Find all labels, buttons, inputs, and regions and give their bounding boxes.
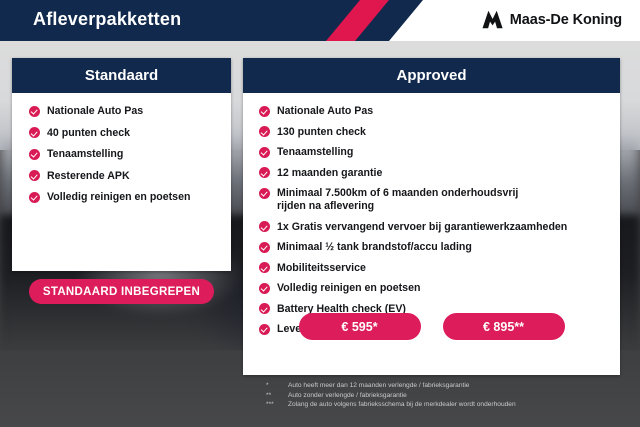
footnote-marker: * — [266, 381, 288, 391]
page-title: Afleverpakketten — [33, 9, 181, 30]
top-bar: Afleverpakketten Maas-De Koning — [0, 0, 640, 41]
check-circle-icon — [29, 170, 40, 181]
list-item: Volledig reinigen en poetsen — [29, 191, 231, 204]
feature-label: Minimaal 7.500km of 6 maanden onderhouds… — [277, 187, 518, 213]
feature-label-line-2: rijden na aflevering — [277, 200, 518, 213]
list-item: Resterende APK — [29, 170, 231, 183]
brand-logo: Maas-De Koning — [482, 10, 622, 29]
check-circle-icon — [259, 262, 270, 273]
feature-label: Volledig reinigen en poetsen — [277, 282, 420, 295]
footnote-3: *** Zolang de auto volgens fabrieksschem… — [266, 400, 626, 410]
check-circle-icon — [29, 106, 40, 117]
footnote-text: Zolang de auto volgens fabrieksschema bi… — [288, 400, 626, 410]
list-item: Tenaamstelling — [29, 148, 231, 161]
promo-page: Afleverpakketten Maas-De Koning Standaar… — [0, 0, 640, 427]
footnote-marker: ** — [266, 391, 288, 401]
check-circle-icon — [259, 188, 270, 199]
feature-label: Minimaal ½ tank brandstof/accu lading — [277, 241, 472, 254]
feature-label: Nationale Auto Pas — [277, 105, 373, 118]
price-button-595[interactable]: € 595* — [299, 313, 421, 340]
brand-name: Maas-De Koning — [510, 12, 622, 28]
check-circle-icon — [29, 192, 40, 203]
approved-feature-list: Nationale Auto Pas 130 punten check Tena… — [243, 93, 620, 336]
check-circle-icon — [259, 147, 270, 158]
footnote-text: Auto zonder verlengde / fabrieksgarantie — [288, 391, 626, 401]
check-circle-icon — [259, 106, 270, 117]
list-item: Minimaal ½ tank brandstof/accu lading — [259, 241, 610, 254]
footnote-1: * Auto heeft meer dan 12 maanden verleng… — [266, 381, 626, 391]
list-item: 40 punten check — [29, 127, 231, 140]
standard-included-button[interactable]: STANDAARD INBEGREPEN — [29, 279, 214, 304]
feature-label: 12 maanden garantie — [277, 167, 382, 180]
price-button-row: € 595* € 895** — [243, 313, 620, 340]
footnote-list: * Auto heeft meer dan 12 maanden verleng… — [266, 381, 626, 410]
footnote-2: ** Auto zonder verlengde / fabrieksgaran… — [266, 391, 626, 401]
standard-package-card: Standaard Nationale Auto Pas 40 punten c… — [12, 58, 231, 271]
footnote-text: Auto heeft meer dan 12 maanden verlengde… — [288, 381, 626, 391]
feature-label: Mobiliteitsservice — [277, 262, 366, 275]
list-item: Nationale Auto Pas — [259, 105, 610, 118]
header-pink-wedge — [297, 0, 389, 41]
list-item: 12 maanden garantie — [259, 167, 610, 180]
maas-de-koning-m-mark-icon — [482, 10, 503, 29]
feature-label: Tenaamstelling — [47, 148, 123, 161]
feature-label: 40 punten check — [47, 127, 130, 140]
check-circle-icon — [259, 283, 270, 294]
footnote-marker: *** — [266, 400, 288, 410]
feature-label: 1x Gratis vervangend vervoer bij garanti… — [277, 221, 567, 234]
price-button-895[interactable]: € 895** — [443, 313, 565, 340]
standard-card-heading: Standaard — [12, 58, 231, 93]
list-item: Nationale Auto Pas — [29, 105, 231, 118]
list-item: Volledig reinigen en poetsen — [259, 282, 610, 295]
approved-card-heading: Approved — [243, 58, 620, 93]
feature-label: Resterende APK — [47, 170, 130, 183]
feature-label: Nationale Auto Pas — [47, 105, 143, 118]
check-circle-icon — [259, 242, 270, 253]
list-item: Mobiliteitsservice — [259, 262, 610, 275]
feature-label-line-1: Minimaal 7.500km of 6 maanden onderhouds… — [277, 187, 518, 200]
feature-label: Volledig reinigen en poetsen — [47, 191, 190, 204]
check-circle-icon — [259, 167, 270, 178]
feature-label: Tenaamstelling — [277, 146, 353, 159]
list-item: 130 punten check — [259, 126, 610, 139]
check-circle-icon — [259, 126, 270, 137]
check-circle-icon — [259, 221, 270, 232]
check-circle-icon — [29, 127, 40, 138]
list-item: Minimaal 7.500km of 6 maanden onderhouds… — [259, 187, 610, 213]
list-item: Tenaamstelling — [259, 146, 610, 159]
approved-package-card: Approved Nationale Auto Pas 130 punten c… — [243, 58, 620, 375]
list-item: 1x Gratis vervangend vervoer bij garanti… — [259, 221, 610, 234]
check-circle-icon — [29, 149, 40, 160]
feature-label: 130 punten check — [277, 126, 366, 139]
standard-feature-list: Nationale Auto Pas 40 punten check Tenaa… — [12, 93, 231, 204]
